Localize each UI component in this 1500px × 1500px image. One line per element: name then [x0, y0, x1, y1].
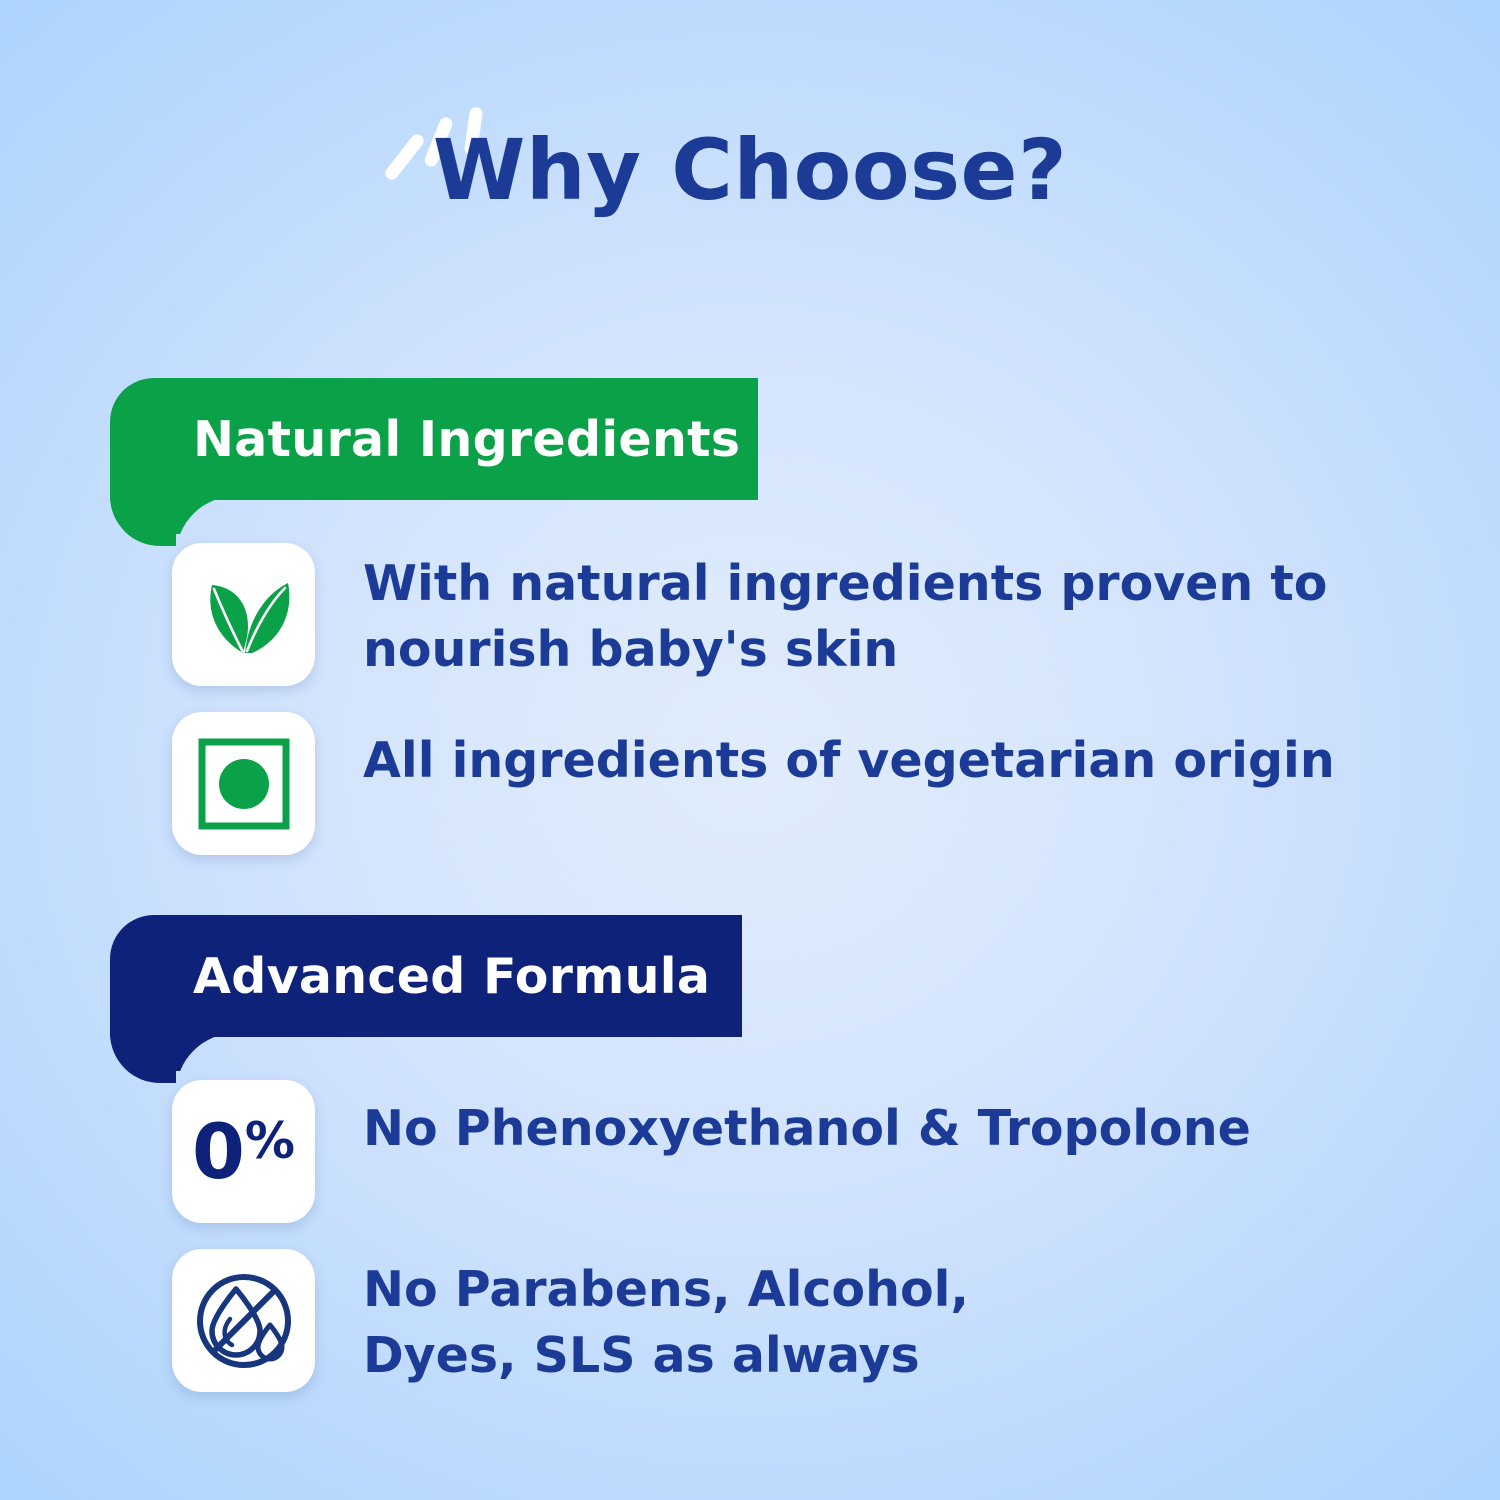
section-banner-natural-ingredients: Natural Ingredients [110, 378, 758, 500]
zero-percent-symbol: % [245, 1116, 295, 1166]
feature-row: No Parabens, Alcohol, Dyes, SLS as alway… [172, 1249, 1412, 1392]
banner-tail [110, 1033, 176, 1083]
section-natural-ingredients: Natural Ingredients With na [110, 378, 1410, 578]
section-advanced-formula: Advanced Formula 0 % No Phenoxyethanol &… [110, 915, 1410, 1115]
feature-row: All ingredients of vegetarian origin [172, 712, 1412, 855]
vegetarian-mark-icon [172, 712, 315, 855]
feature-list-natural-ingredients: With natural ingredients proven to nouri… [172, 543, 1412, 881]
feature-text: With natural ingredients proven to nouri… [315, 543, 1373, 682]
why-choose-poster: Why Choose? Natural Ingredients [0, 0, 1500, 1500]
banner-tail [110, 496, 176, 546]
feature-text: No Phenoxyethanol & Tropolone [315, 1080, 1251, 1162]
feature-row: 0 % No Phenoxyethanol & Tropolone [172, 1080, 1412, 1223]
feature-text: No Parabens, Alcohol, Dyes, SLS as alway… [315, 1249, 1123, 1388]
zero-percent-number: 0 [192, 1114, 243, 1190]
no-water-droplet-icon [172, 1249, 315, 1392]
section-banner-advanced-formula: Advanced Formula [110, 915, 742, 1037]
section-banner-label: Natural Ingredients [110, 415, 740, 464]
leaves-icon [172, 543, 315, 686]
feature-text: All ingredients of vegetarian origin [315, 712, 1335, 794]
feature-row: With natural ingredients proven to nouri… [172, 543, 1412, 686]
page-title: Why Choose? [433, 128, 1068, 212]
feature-list-advanced-formula: 0 % No Phenoxyethanol & Tropolone [172, 1080, 1412, 1418]
zero-percent-icon: 0 % [172, 1080, 315, 1223]
section-banner-label: Advanced Formula [110, 952, 710, 1001]
title-zone: Why Choose? [0, 128, 1500, 212]
